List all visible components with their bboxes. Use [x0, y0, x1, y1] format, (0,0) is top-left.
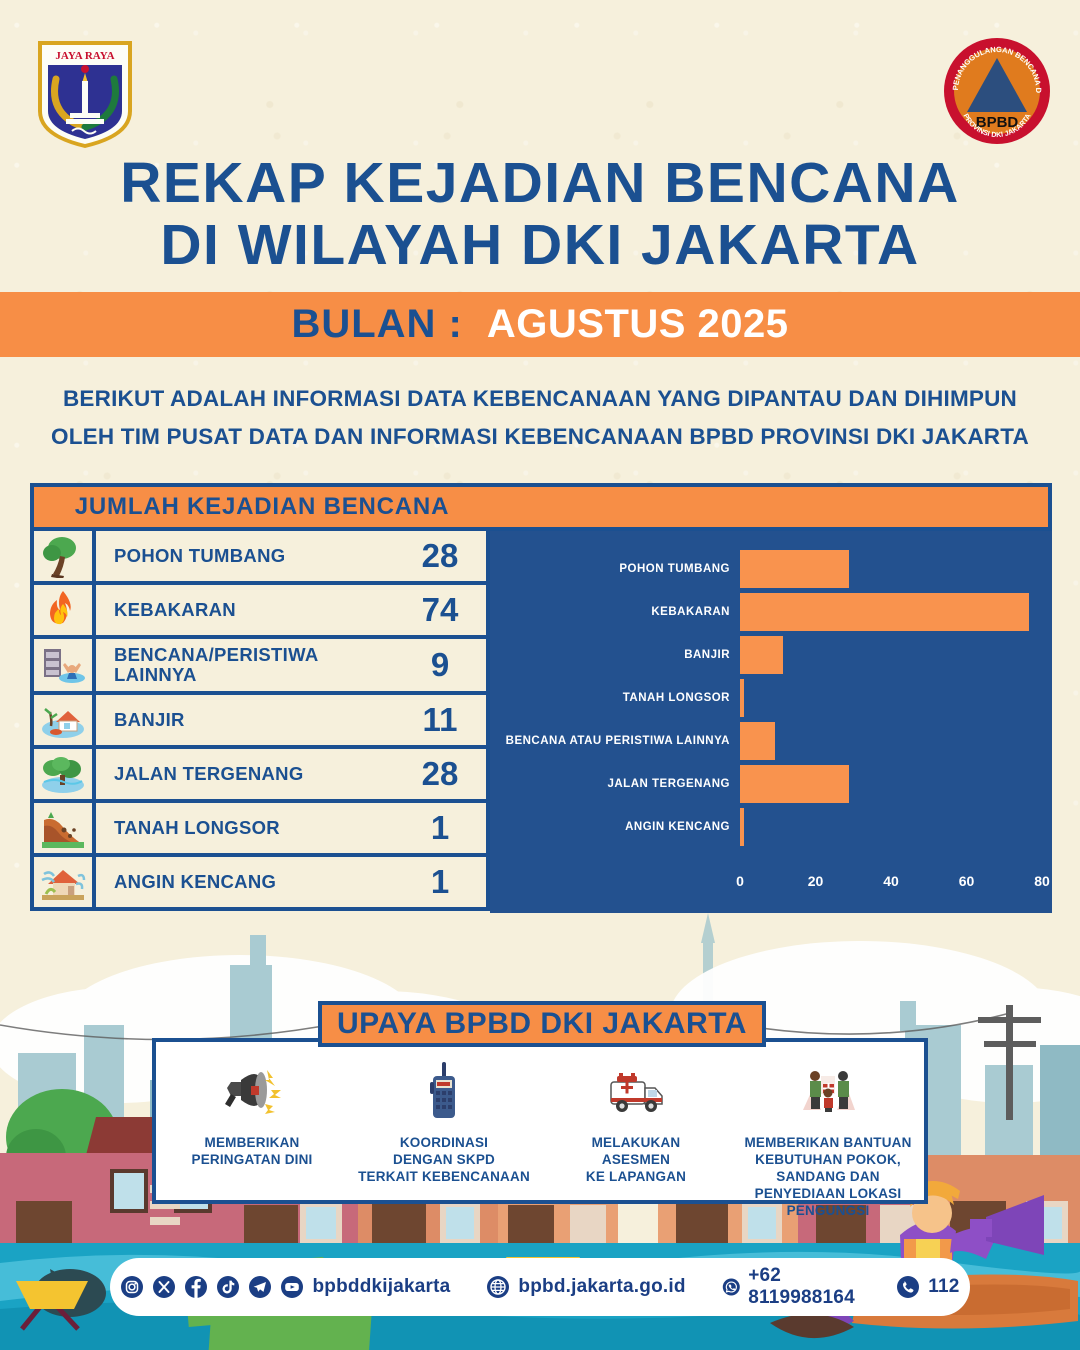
chart-bar-row: POHON TUMBANG	[490, 549, 1052, 589]
table-row-value: 11	[394, 695, 486, 745]
phone-group: 112	[878, 1275, 977, 1299]
chart-bar-row: JALAN TERGENANG	[490, 764, 1052, 804]
chart-bar-label: BENCANA ATAU PERISTIWA LAINNYA	[490, 735, 740, 747]
fire-icon	[34, 585, 96, 635]
chart-plot-area: POHON TUMBANGKEBAKARANBANJIRTANAH LONGSO…	[490, 531, 1052, 913]
intro-line-1: BERIKUT ADALAH INFORMASI DATA KEBENCANAA…	[0, 380, 1080, 418]
whatsapp-number[interactable]: +62 8119988164	[748, 1265, 860, 1309]
phone-icon[interactable]	[896, 1275, 920, 1299]
chart-bar-label: JALAN TERGENANG	[490, 778, 740, 790]
ambulance-icon	[546, 1058, 726, 1122]
phone-number[interactable]: 112	[928, 1276, 959, 1298]
upaya-item[interactable]: MEMBERIKANPERINGATAN DINI	[156, 1058, 348, 1168]
page-title: REKAP KEJADIAN BENCANA DI WILAYAH DKI JA…	[0, 152, 1080, 276]
month-value: AGUSTUS 2025	[487, 302, 789, 347]
chart-x-tick: 80	[1034, 873, 1050, 889]
handheld-radio-icon	[354, 1058, 534, 1122]
chart-x-tick: 0	[736, 873, 744, 889]
chart-bar-row: TANAH LONGSOR	[490, 678, 1052, 718]
tiktok-icon[interactable]	[216, 1275, 240, 1299]
chart-x-axis: 020406080	[740, 873, 1042, 895]
upaya-item[interactable]: MEMBERIKAN BANTUANKEBUTUHAN POKOK,SANDAN…	[732, 1058, 924, 1219]
chart-bar-label: POHON TUMBANG	[490, 563, 740, 575]
fallen-tree-icon	[34, 531, 96, 581]
dki-jakarta-logo: JAYA RAYA	[30, 35, 140, 150]
table-row[interactable]: ANGIN KENCANG 1	[30, 857, 490, 911]
megaphone-icon	[162, 1058, 342, 1122]
telegram-icon[interactable]	[248, 1275, 272, 1299]
data-block-header: JUMLAH KEJADIAN BENCANA	[30, 483, 1052, 531]
upaya-item[interactable]: MELAKUKANASESMENKE LAPANGAN	[540, 1058, 732, 1185]
globe-icon[interactable]	[486, 1275, 510, 1299]
chart-bar-row: ANGIN KENCANG	[490, 807, 1052, 847]
chart-bar-track	[740, 592, 1052, 632]
data-block-body: POHON TUMBANG 28 KEBAKARAN 74	[30, 531, 1052, 913]
table-title: JUMLAH KEJADIAN BENCANA	[34, 487, 490, 527]
chart-bar-label: BANJIR	[490, 649, 740, 661]
page-title-line-2: DI WILAYAH DKI JAKARTA	[0, 214, 1080, 276]
chart-bar-label: ANGIN KENCANG	[490, 821, 740, 833]
dki-logo-motto: JAYA RAYA	[55, 50, 114, 62]
website-url[interactable]: bpbd.jakarta.go.id	[518, 1276, 685, 1298]
other-disaster-icon	[34, 639, 96, 691]
flooded-road-icon	[34, 749, 96, 799]
chart-bar-label: KEBAKARAN	[490, 606, 740, 618]
social-handle[interactable]: bpbddkijakarta	[312, 1276, 450, 1298]
social-group: bpbddkijakarta	[102, 1275, 468, 1299]
table-row-label: BANJIR	[96, 695, 394, 745]
chart-bar-track	[740, 764, 1052, 804]
chart-bar-label: TANAH LONGSOR	[490, 692, 740, 704]
chart-bar	[740, 808, 744, 846]
table-row-label: POHON TUMBANG	[96, 531, 394, 581]
disaster-table: POHON TUMBANG 28 KEBAKARAN 74	[30, 531, 490, 913]
chart-x-tick: 60	[959, 873, 975, 889]
youtube-icon[interactable]	[280, 1275, 304, 1299]
disaster-data-block: JUMLAH KEJADIAN BENCANA POHON TUMBANG	[30, 483, 1052, 913]
page-title-line-1: REKAP KEJADIAN BENCANA	[0, 152, 1080, 214]
table-row-label: JALAN TERGENANG	[96, 749, 394, 799]
chart-bar	[740, 765, 849, 803]
chart-bar-row: BENCANA ATAU PERISTIWA LAINNYA	[490, 721, 1052, 761]
chart-bar	[740, 679, 744, 717]
strong-wind-icon	[34, 857, 96, 907]
upaya-item-text: MELAKUKANASESMENKE LAPANGAN	[546, 1134, 726, 1185]
chart-bar	[740, 550, 849, 588]
table-row-label: TANAH LONGSOR	[96, 803, 394, 853]
table-row[interactable]: JALAN TERGENANG 28	[30, 749, 490, 803]
upaya-item-text: KOORDINASIDENGAN SKPDTERKAIT KEBENCANAAN	[354, 1134, 534, 1185]
upaya-item-text: MEMBERIKAN BANTUANKEBUTUHAN POKOK,SANDAN…	[738, 1134, 918, 1219]
table-row-value: 1	[394, 803, 486, 853]
table-row[interactable]: POHON TUMBANG 28	[30, 531, 490, 585]
instagram-icon[interactable]	[120, 1275, 144, 1299]
chart-bar-track	[740, 635, 1052, 675]
table-row-label: ANGIN KENCANG	[96, 857, 394, 907]
chart-bar-track	[740, 721, 1052, 761]
whatsapp-icon[interactable]	[722, 1275, 741, 1299]
table-row-value: 28	[394, 531, 486, 581]
month-label: BULAN :	[291, 302, 462, 347]
chart-bar-track	[740, 549, 1052, 589]
bpbd-logo: BPBD BADAN PENANGGULANGAN BENCANA DAERAH…	[942, 36, 1052, 146]
chart-bar	[740, 636, 783, 674]
table-row[interactable]: TANAH LONGSOR 1	[30, 803, 490, 857]
month-band: BULAN : AGUSTUS 2025	[0, 292, 1080, 357]
upaya-title: UPAYA BPBD DKI JAKARTA	[318, 1001, 766, 1047]
intro-line-2: OLEH TIM PUSAT DATA DAN INFORMASI KEBENC…	[0, 418, 1080, 456]
chart-bar-track	[740, 678, 1052, 718]
table-row-value: 28	[394, 749, 486, 799]
chart-bar-track	[740, 807, 1052, 847]
chart-bar-row: BANJIR	[490, 635, 1052, 675]
landslide-icon	[34, 803, 96, 853]
table-row-label: KEBAKARAN	[96, 585, 394, 635]
facebook-icon[interactable]	[184, 1275, 208, 1299]
chart-bar-row: KEBAKARAN	[490, 592, 1052, 632]
infographic-page: JAYA RAYA BPBD BADAN PENANGGULANGAN BENC…	[0, 0, 1080, 1350]
table-row[interactable]: BENCANA/PERISTIWA LAINNYA 9	[30, 639, 490, 695]
header-spacer	[490, 487, 1048, 527]
table-row-value: 74	[394, 585, 486, 635]
x-icon[interactable]	[152, 1275, 176, 1299]
table-row-label: BENCANA/PERISTIWA LAINNYA	[96, 639, 394, 691]
chart-x-tick: 20	[808, 873, 824, 889]
table-row[interactable]: KEBAKARAN 74	[30, 585, 490, 639]
table-row-value: 9	[394, 639, 486, 691]
chart-bar	[740, 722, 775, 760]
aid-distribution-icon	[738, 1058, 918, 1122]
table-row-value: 1	[394, 857, 486, 907]
table-row[interactable]: BANJIR 11	[30, 695, 490, 749]
chart-x-tick: 40	[883, 873, 899, 889]
website-group: bpbd.jakarta.go.id	[468, 1275, 703, 1299]
upaya-card: MEMBERIKANPERINGATAN DINI KOORDINAS	[152, 1038, 928, 1204]
upaya-item[interactable]: KOORDINASIDENGAN SKPDTERKAIT KEBENCANAAN	[348, 1058, 540, 1185]
disaster-bar-chart: POHON TUMBANGKEBAKARANBANJIRTANAH LONGSO…	[490, 531, 1052, 913]
intro-paragraph: BERIKUT ADALAH INFORMASI DATA KEBENCANAA…	[0, 380, 1080, 456]
contact-footer: bpbddkijakarta bpbd.jakarta.go.id +62 81…	[110, 1258, 970, 1316]
whatsapp-group: +62 8119988164	[704, 1265, 879, 1309]
upaya-item-text: MEMBERIKANPERINGATAN DINI	[162, 1134, 342, 1168]
flooded-house-icon	[34, 695, 96, 745]
chart-bar	[740, 593, 1029, 631]
